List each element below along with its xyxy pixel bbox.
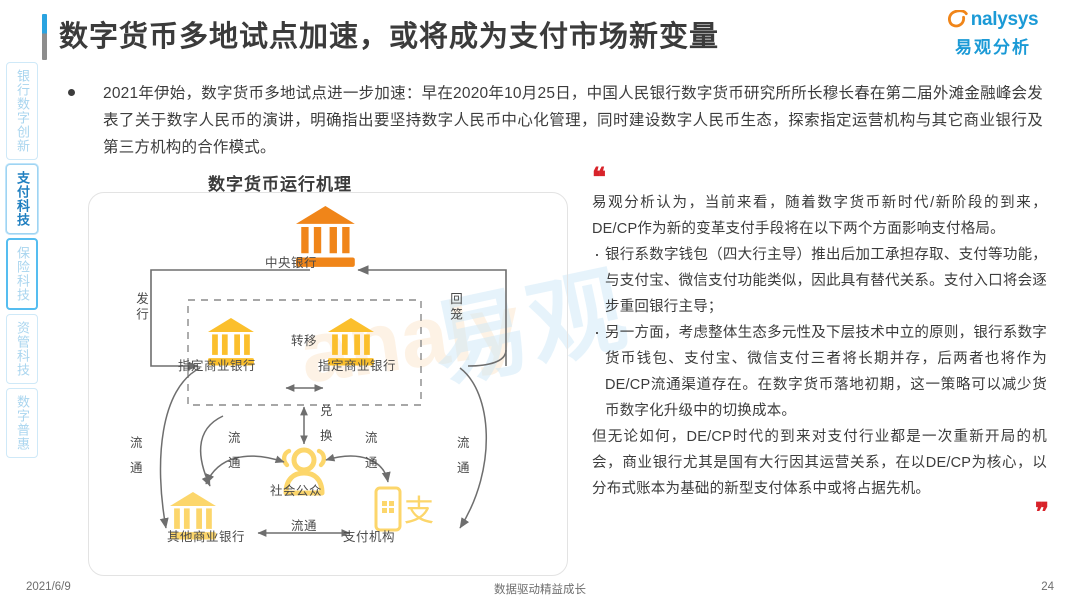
logo-chinese-name: 易观分析 [928, 33, 1058, 58]
intro-bullet: 2021年伊始，数字货币多地试点进一步加速：早在2020年10月25日，中国人民… [68, 80, 1043, 161]
commentary-closing: 但无论如何，DE/CP时代的到来对支付行业都是一次重新开局的机会，商业银行尤其是… [592, 424, 1047, 502]
sidebar-item-asset-management-tech[interactable]: 资管科技 [6, 314, 38, 384]
edge-label-circ-left-1: 流 [130, 432, 143, 451]
edge-label-circ-midright-2: 通 [365, 452, 378, 471]
sidebar-nav[interactable]: 银行数字创新 支付科技 保险科技 资管科技 数字普惠 [6, 62, 40, 462]
logo-swoosh-icon [948, 10, 970, 30]
page-footer: 2021/6/9 数据驱动精益成长 24 [0, 581, 1080, 599]
intro-bullet-text: 2021年伊始，数字货币多地试点进一步加速：早在2020年10月25日，中国人民… [103, 80, 1043, 161]
edge-label-circ-midleft-2: 通 [228, 452, 241, 471]
page-title: 数字货币多地试点加速，或将成为支付市场新变量 [59, 14, 719, 60]
svg-text:支: 支 [404, 495, 434, 528]
node-label-designated-bank-right: 指定商业银行 [318, 355, 396, 374]
edge-label-circ-midright-1: 流 [365, 427, 378, 446]
diagram-graphics: 支 [88, 192, 566, 574]
edge-label-withdraw: 回笼 [446, 292, 465, 323]
node-label-payment-org: 支付机构 [343, 526, 395, 545]
node-label-central-bank: 中央银行 [265, 252, 317, 271]
commentary-bullet-2: 另一方面，考虑整体生态多元性及下层技术中立的原则，银行系数字货币钱包、支付宝、微… [592, 320, 1047, 424]
bullet-dot-icon [68, 89, 75, 96]
edge-label-exchange-2: 换 [320, 425, 333, 444]
sidebar-item-label: 银行数字创新 [14, 69, 30, 153]
sidebar-item-label: 资管科技 [14, 321, 30, 377]
commentary-panel: ❝ 易观分析认为，当前来看，随着数字货币新时代/新阶段的到来，DE/CP作为新的… [592, 170, 1047, 528]
title-accent-bar [42, 14, 47, 60]
edge-label-circ-bottom: 流通 [291, 515, 317, 534]
edge-label-exchange-1: 兑 [320, 400, 333, 419]
quote-close-icon: ❞ [592, 498, 1047, 528]
commentary-intro: 易观分析认为，当前来看，随着数字货币新时代/新阶段的到来，DE/CP作为新的变革… [592, 190, 1047, 242]
edge-label-circ-midleft-1: 流 [228, 427, 241, 446]
edge-label-circ-right-2: 通 [457, 457, 470, 476]
sidebar-item-insurance-tech[interactable]: 保险科技 [6, 238, 38, 310]
edge-label-circ-right-1: 流 [457, 432, 470, 451]
edge-label-transfer: 转移 [291, 330, 317, 349]
edge-label-circ-left-2: 通 [130, 457, 143, 476]
analysys-logo: nalysys 易观分析 [928, 8, 1058, 58]
quote-open-icon: ❝ [592, 170, 1047, 186]
sidebar-item-label: 保险科技 [14, 246, 30, 302]
footer-tagline: 数据驱动精益成长 [0, 581, 1080, 597]
edge-label-issue: 发行 [132, 292, 151, 323]
sidebar-item-digital-inclusive[interactable]: 数字普惠 [6, 388, 38, 458]
node-label-other-bank: 其他商业银行 [167, 526, 245, 545]
sidebar-item-label: 数字普惠 [14, 395, 30, 451]
logo-wordmark: nalysys [971, 10, 1039, 30]
commentary-bullet-1: 银行系数字钱包（四大行主导）推出后加工承担存取、支付等功能，与支付宝、微信支付功… [592, 242, 1047, 320]
page-header: 数字货币多地试点加速，或将成为支付市场新变量 [42, 14, 719, 60]
payment-org-icon: 支 [376, 488, 434, 530]
footer-page-number: 24 [1041, 581, 1054, 593]
node-label-public: 社会公众 [270, 480, 322, 499]
sidebar-item-bank-digital-innovation[interactable]: 银行数字创新 [6, 62, 38, 160]
node-label-designated-bank-left: 指定商业银行 [178, 355, 256, 374]
